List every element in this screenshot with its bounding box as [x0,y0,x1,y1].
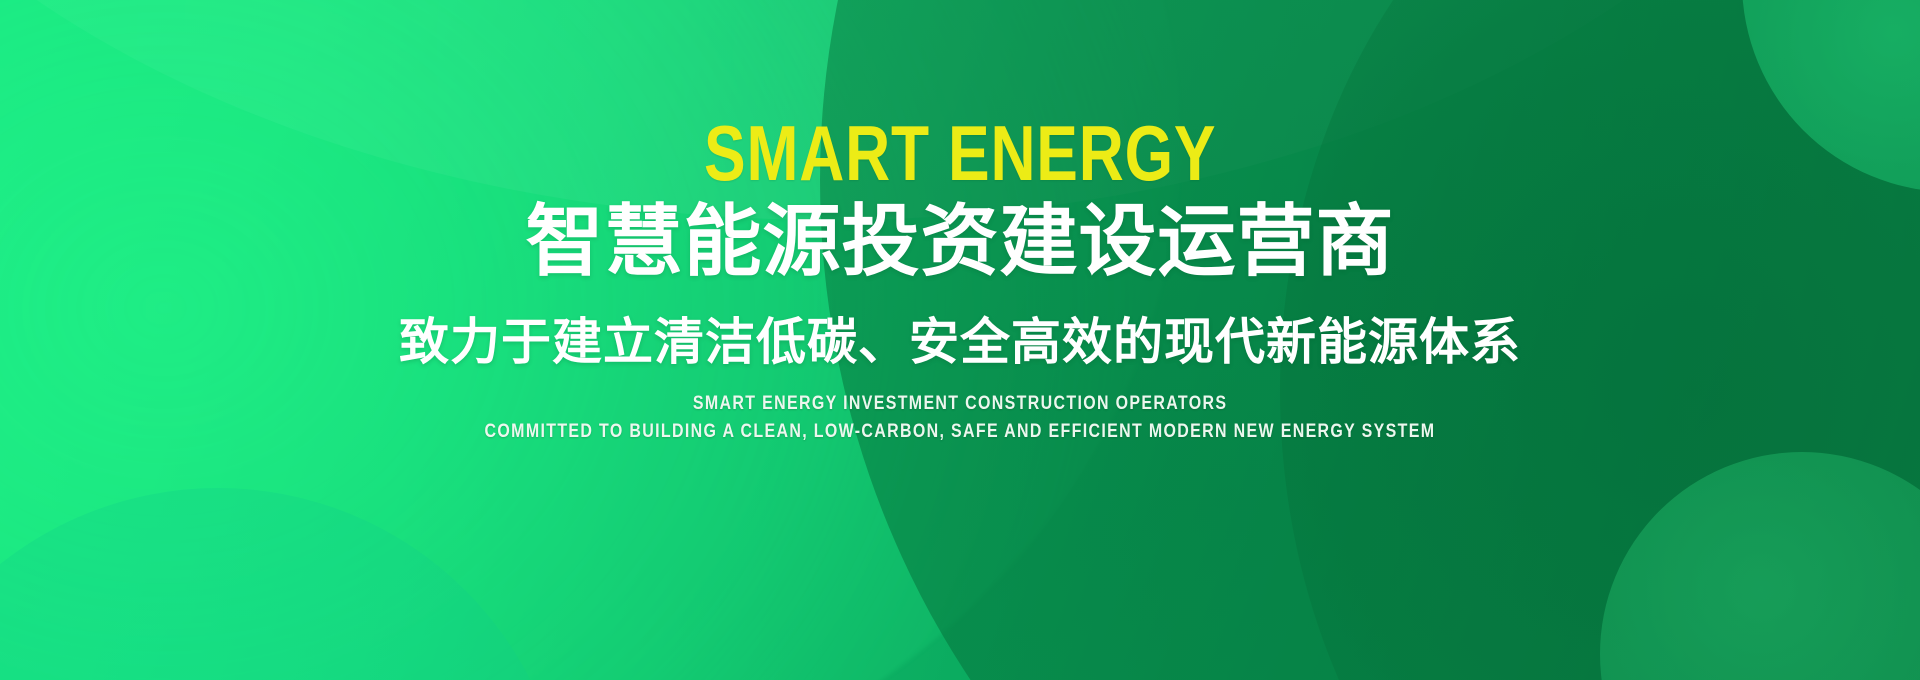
smart-energy-banner: SMART ENERGY 智慧能源投资建设运营商 致力于建立清洁低碳、安全高效的… [0,0,1920,680]
tagline-english-line-2: COMMITTED TO BUILDING A CLEAN, LOW-CARBO… [485,420,1436,444]
subheadline-chinese: 致力于建立清洁低碳、安全高效的现代新能源体系 [399,314,1521,370]
tagline-block: SMART ENERGY INVESTMENT CONSTRUCTION OPE… [394,392,1526,445]
headline-english: SMART ENERGY [704,118,1216,190]
banner-content: SMART ENERGY 智慧能源投资建设运营商 致力于建立清洁低碳、安全高效的… [0,0,1920,680]
tagline-english-line-1: SMART ENERGY INVESTMENT CONSTRUCTION OPE… [693,392,1227,416]
headline-chinese: 智慧能源投资建设运营商 [525,200,1394,284]
